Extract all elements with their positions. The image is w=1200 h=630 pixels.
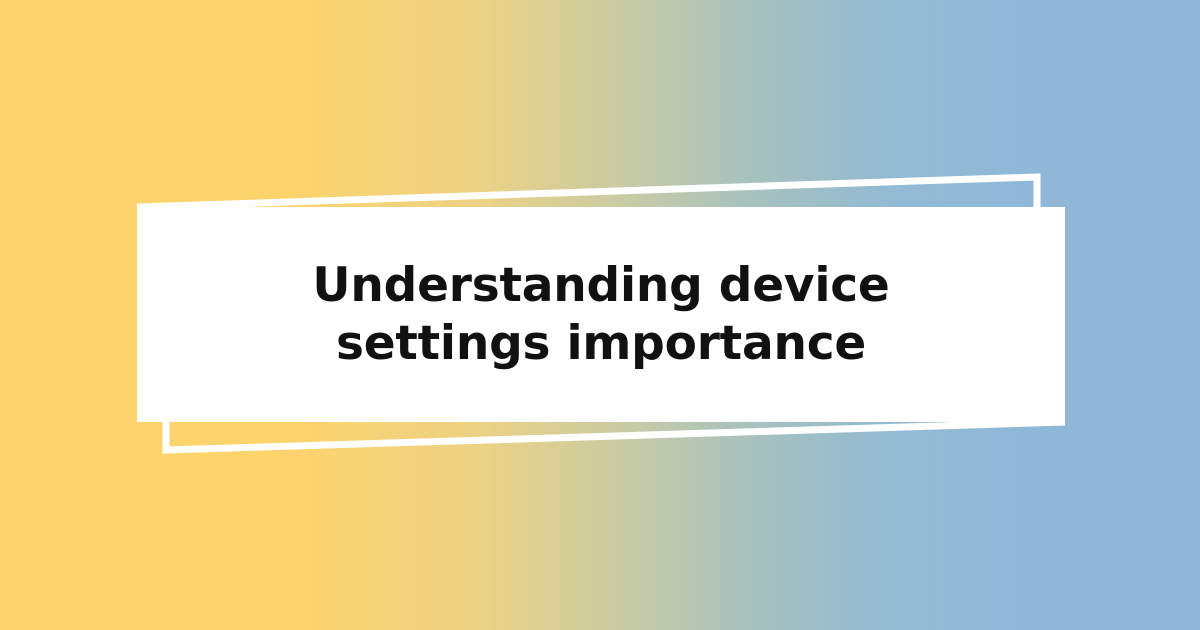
title-card: Understanding device settings importance <box>137 207 1065 422</box>
banner-stage: Understanding device settings importance <box>0 0 1200 630</box>
page-title: Understanding device settings importance <box>221 257 981 373</box>
